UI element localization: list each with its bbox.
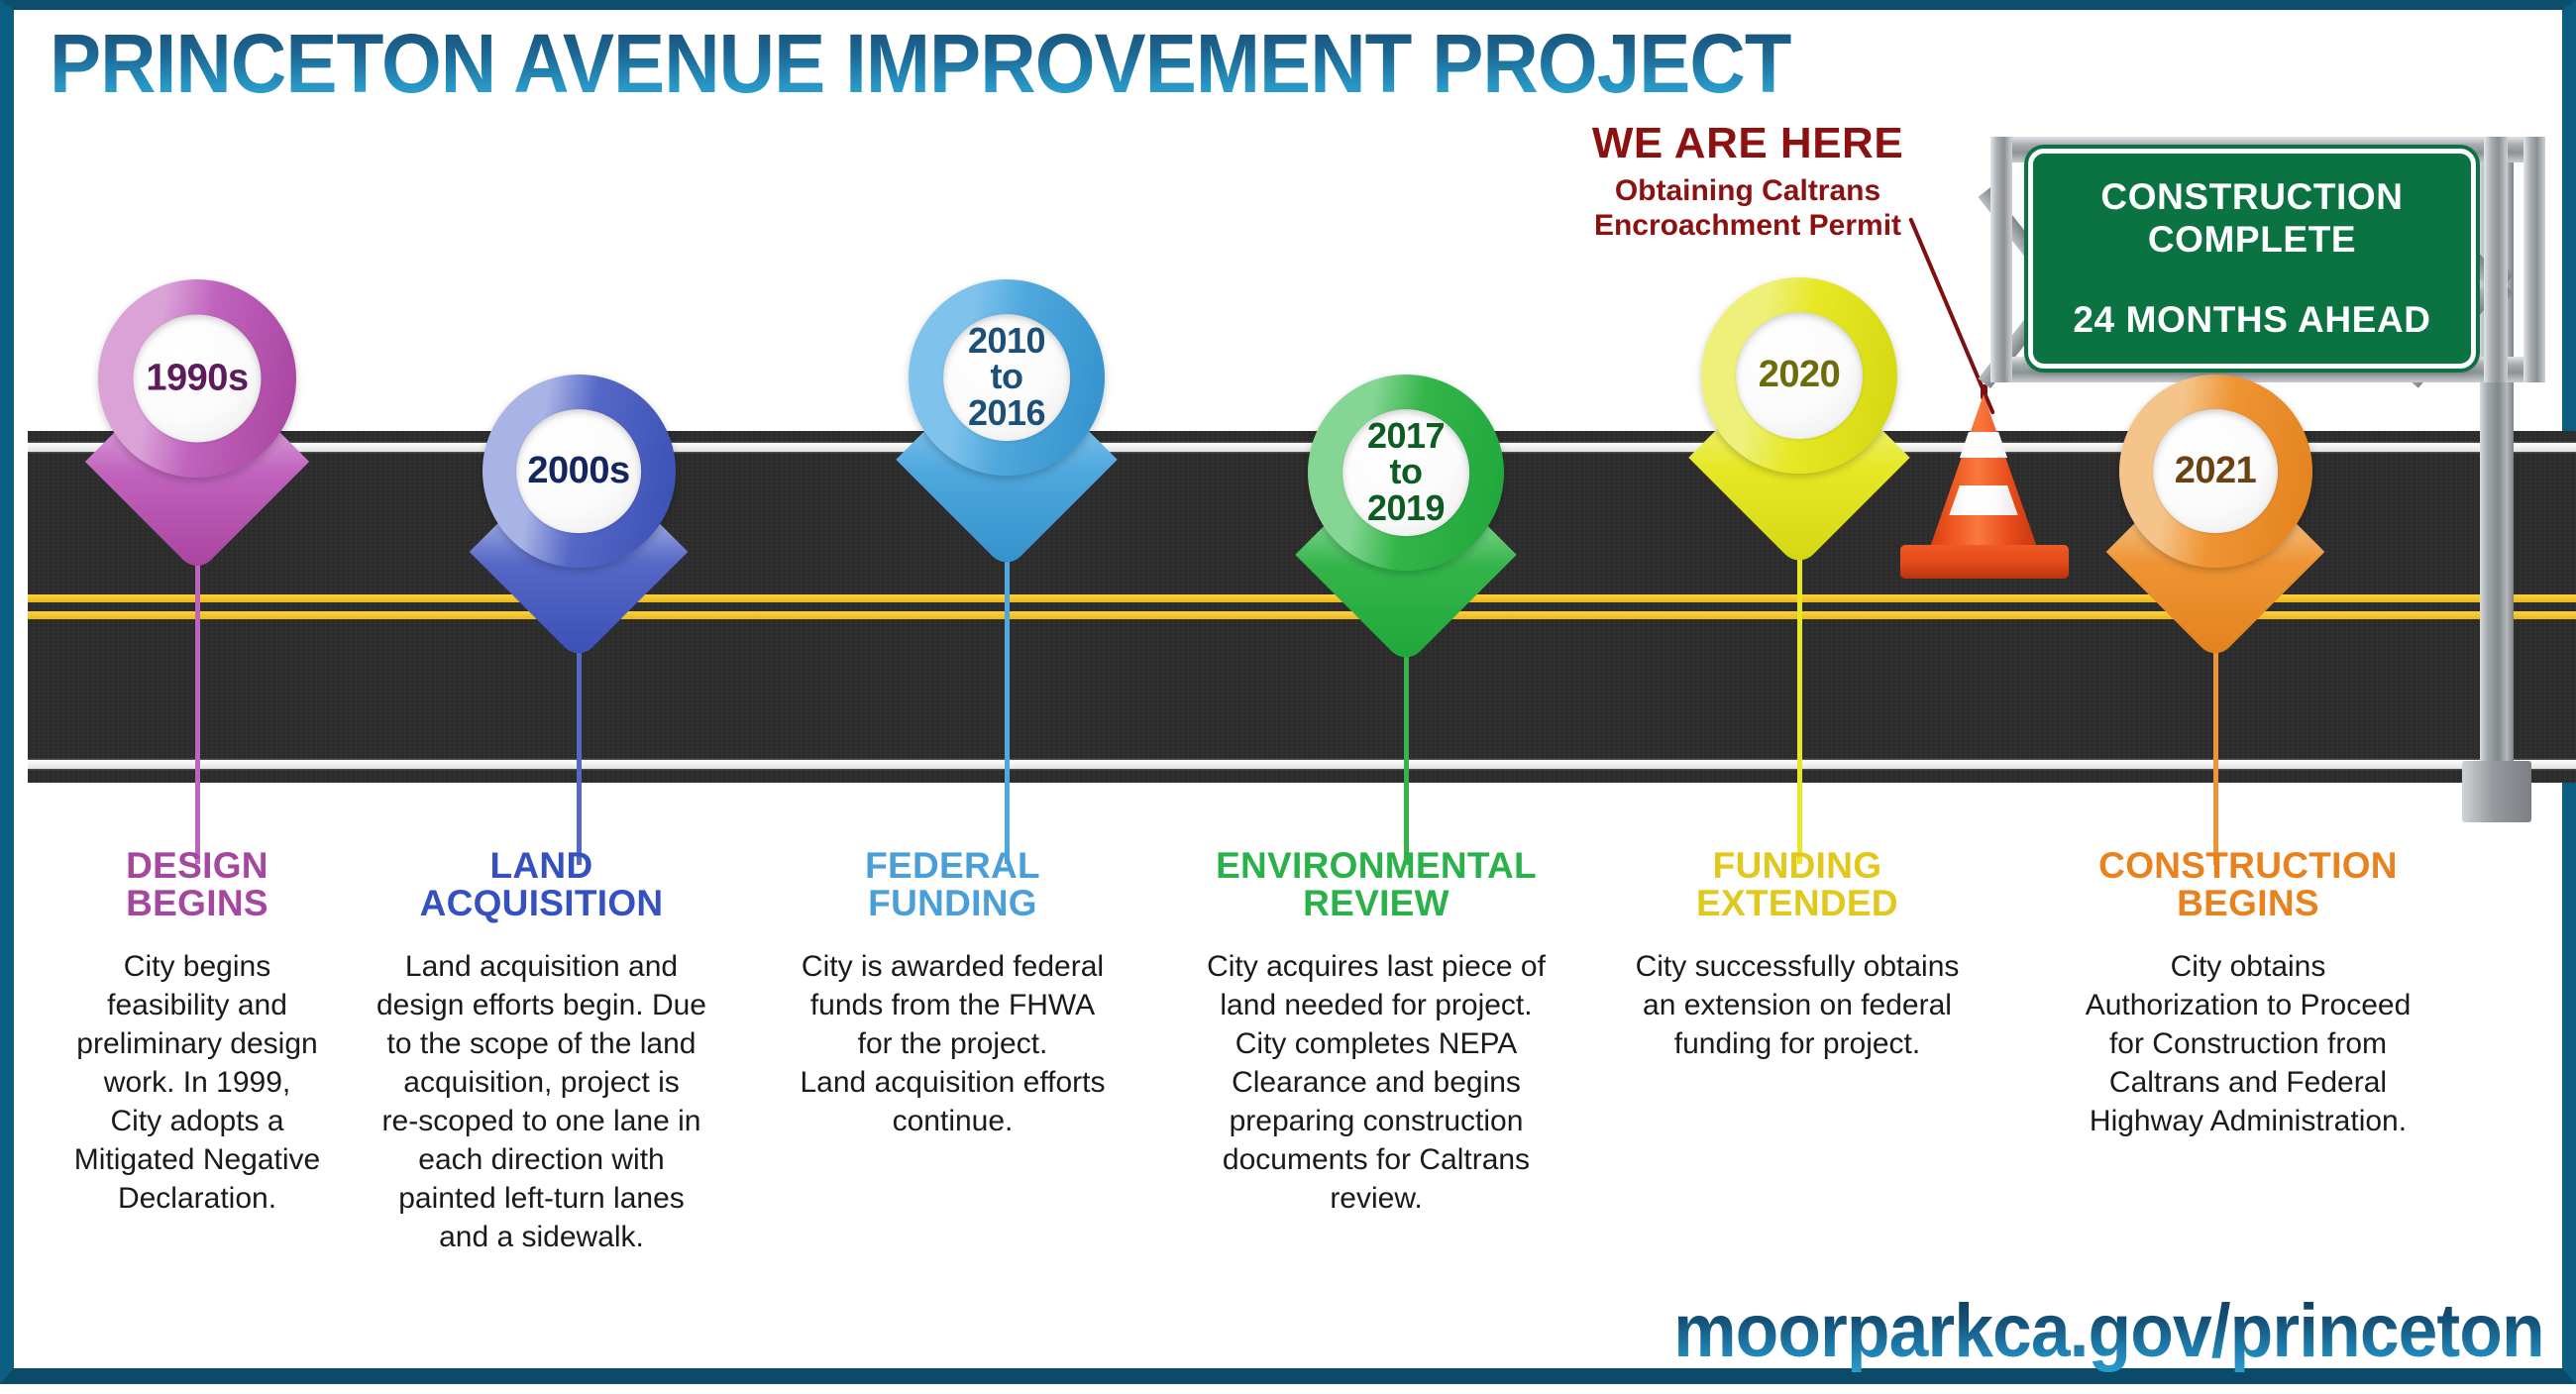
milestone-column: FUNDING EXTENDEDCity successfully obtain…: [1604, 847, 1990, 1063]
gantry-post-right: [2484, 137, 2508, 382]
gantry-post-left: [1990, 137, 2012, 382]
poster-stage: PRINCETON AVENUE IMPROVEMENT PROJECT 199…: [14, 10, 2576, 1394]
pin-face: 2021: [2153, 409, 2278, 534]
milestone-pin[interactable]: 2000s: [483, 375, 676, 568]
milestone-pin[interactable]: 2021: [2119, 375, 2312, 568]
sign-line-1: CONSTRUCTION COMPLETE: [2100, 176, 2403, 262]
footer-url[interactable]: moorparkca.gov/princeton: [1673, 1288, 2544, 1374]
milestone-heading: ENVIRONMENTAL REVIEW: [1173, 847, 1579, 923]
milestone-column: LAND ACQUISITIONLand acquisition and des…: [346, 847, 737, 1256]
pin-face: 2000s: [516, 409, 641, 534]
milestone-heading: DESIGN BEGINS: [34, 847, 361, 923]
milestone-pin[interactable]: 2017 to 2019: [1308, 375, 1504, 571]
sign-line-2: 24 MONTHS AHEAD: [2073, 299, 2430, 341]
callout-headline: WE ARE HERE: [1540, 119, 1956, 168]
milestone-heading: FUNDING EXTENDED: [1604, 847, 1990, 923]
pin-face: 2020: [1736, 312, 1863, 439]
milestone-column: DESIGN BEGINSCity begins feasibility and…: [34, 847, 361, 1218]
pin-year-label: 2017 to 2019: [1367, 418, 1445, 527]
milestone-heading: FEDERAL FUNDING: [762, 847, 1143, 923]
milestone-column: FEDERAL FUNDINGCity is awarded federal f…: [762, 847, 1143, 1140]
pin-year-label: 2020: [1759, 357, 1841, 395]
pin-year-label: 2000s: [527, 452, 629, 490]
pin-year-label: 2010 to 2016: [968, 323, 1045, 432]
poster-frame: PRINCETON AVENUE IMPROVEMENT PROJECT 199…: [0, 0, 2576, 1384]
milestone-body: Land acquisition and design efforts begi…: [346, 947, 737, 1256]
gantry-post-outer: [2523, 137, 2545, 382]
page-title: PRINCETON AVENUE IMPROVEMENT PROJECT: [50, 16, 1791, 112]
pin-year-label: 2021: [2175, 452, 2257, 490]
milestone-body: City begins feasibility and preliminary …: [34, 947, 361, 1218]
pin-face: 1990s: [134, 315, 262, 443]
milestone-column: ENVIRONMENTAL REVIEWCity acquires last p…: [1173, 847, 1579, 1218]
milestone-body: City is awarded federal funds from the F…: [762, 947, 1143, 1140]
milestone-body: City acquires last piece of land needed …: [1173, 947, 1579, 1218]
milestone-body: City obtains Authorization to Proceed fo…: [2010, 947, 2486, 1140]
milestone-heading: LAND ACQUISITION: [346, 847, 737, 923]
pin-face: 2017 to 2019: [1342, 409, 1469, 536]
pin-face: 2010 to 2016: [943, 314, 1070, 441]
milestone-pin[interactable]: 1990s: [98, 279, 296, 478]
pin-year-label: 1990s: [146, 360, 248, 398]
we-are-here-callout: WE ARE HERE Obtaining Caltrans Encroachm…: [1540, 119, 1956, 244]
callout-detail: Obtaining Caltrans Encroachment Permit: [1540, 173, 1956, 244]
milestone-pin[interactable]: 2020: [1701, 277, 1897, 474]
milestone-pin[interactable]: 2010 to 2016: [909, 279, 1105, 476]
construction-complete-sign: CONSTRUCTION COMPLETE 24 MONTHS AHEAD: [2028, 149, 2476, 369]
milestone-body: City successfully obtains an extension o…: [1604, 947, 1990, 1063]
gantry-mast-base: [2462, 761, 2531, 822]
